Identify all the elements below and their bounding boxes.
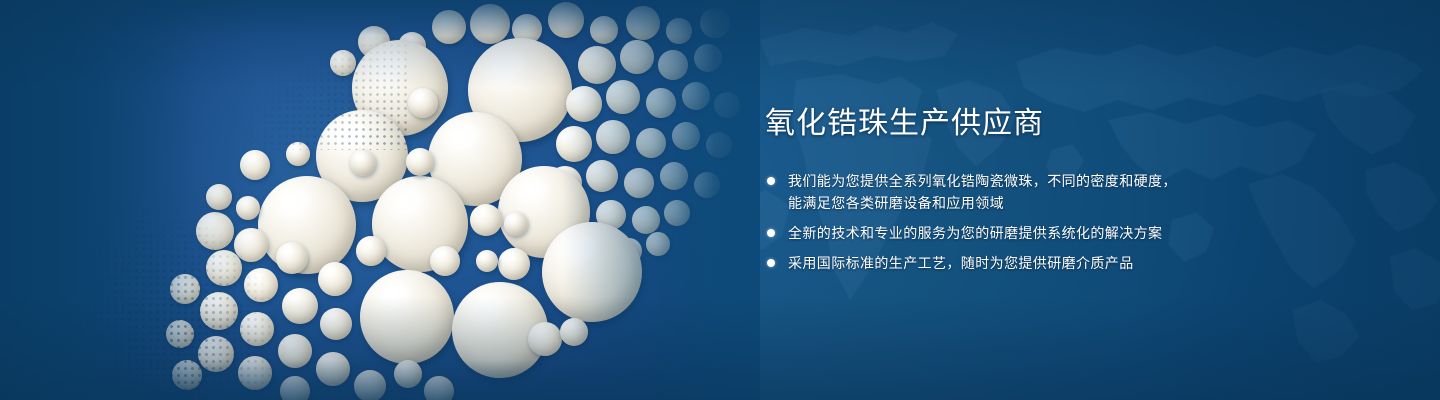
hero-banner: 氧化锆珠生产供应商 我们能为您提供全系列氧化锆陶瓷微珠，不同的密度和硬度， 能满… xyxy=(0,0,1440,400)
list-item: 我们能为您提供全系列氧化锆陶瓷微珠，不同的密度和硬度， 能满足您各类研磨设备和应… xyxy=(765,170,1325,214)
page-title: 氧化锆珠生产供应商 xyxy=(765,104,1325,144)
list-item-line: 能满足您各类研磨设备和应用领域 xyxy=(788,192,1325,214)
list-item-line: 我们能为您提供全系列氧化锆陶瓷微珠，不同的密度和硬度， xyxy=(788,170,1325,192)
list-item-line: 全新的技术和专业的服务为您的研磨提供系统化的解决方案 xyxy=(788,222,1325,244)
list-item-line: 采用国际标准的生产工艺，随时为您提供研磨介质产品 xyxy=(788,252,1325,274)
banner-copy: 氧化锆珠生产供应商 我们能为您提供全系列氧化锆陶瓷微珠，不同的密度和硬度， 能满… xyxy=(765,104,1325,274)
list-item: 全新的技术和专业的服务为您的研磨提供系统化的解决方案 xyxy=(765,222,1325,244)
bullet-dot-icon xyxy=(767,259,775,267)
bullet-dot-icon xyxy=(767,229,775,237)
bullet-dot-icon xyxy=(767,177,775,185)
list-item: 采用国际标准的生产工艺，随时为您提供研磨介质产品 xyxy=(765,252,1325,274)
feature-list: 我们能为您提供全系列氧化锆陶瓷微珠，不同的密度和硬度， 能满足您各类研磨设备和应… xyxy=(765,170,1325,274)
